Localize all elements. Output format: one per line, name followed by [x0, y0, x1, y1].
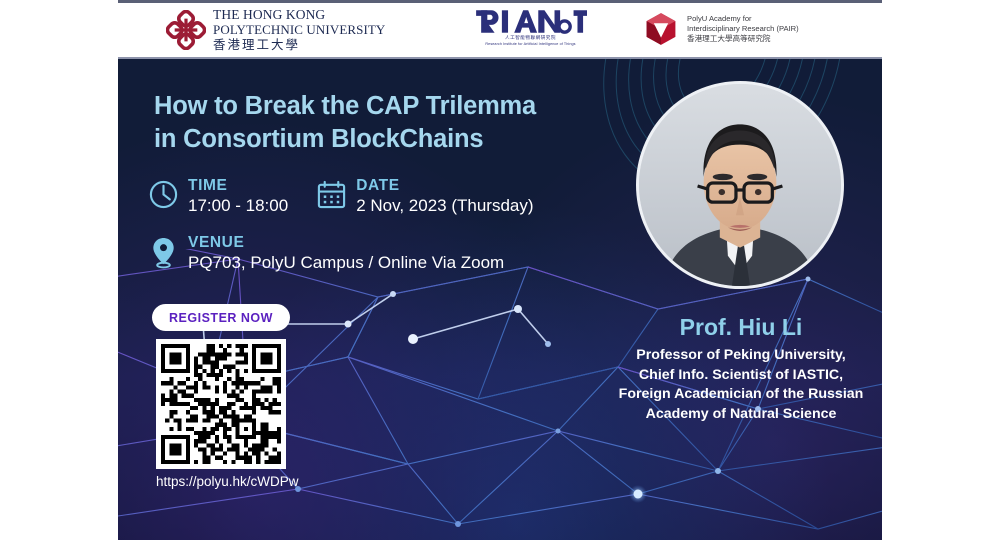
date-group: DATE 2 Nov, 2023 (Thursday)	[316, 177, 533, 217]
venue-block: VENUE PQ703, PolyU Campus / Online Via Z…	[188, 234, 504, 274]
credential-line: Academy of Natural Science	[583, 405, 882, 425]
venue-label: VENUE	[188, 234, 504, 251]
location-pin-icon	[148, 236, 179, 274]
poster-screenshot: THE HONG KONG POLYTECHNIC UNIVERSITY 香港理…	[0, 0, 1000, 540]
polyu-chinese: 香港理工大學	[213, 38, 385, 52]
speaker-portrait	[636, 81, 844, 289]
speaker-name: Prof. Hiu Li	[608, 314, 874, 341]
time-date-row: TIME 17:00 - 18:00	[148, 177, 534, 217]
pair-chinese: 香港理工大學高等研究院	[687, 34, 799, 43]
poster-title: How to Break the CAP Trilemma in Consort…	[154, 90, 554, 155]
clock-icon	[148, 179, 179, 215]
date-label: DATE	[356, 177, 533, 194]
pair-logo: PolyU Academy for Interdisciplinary Rese…	[643, 11, 799, 47]
pair-line1: PolyU Academy for	[687, 14, 799, 23]
date-value: 2 Nov, 2023 (Thursday)	[356, 196, 533, 216]
riaiot-chinese: 人工智能物聯網研究院	[473, 35, 588, 41]
riaiot-logo: 人工智能物聯網研究院 Research Institute for Artifi…	[473, 9, 588, 46]
qr-code[interactable]	[156, 339, 286, 469]
time-block: TIME 17:00 - 18:00	[188, 177, 288, 217]
venue-value: PQ703, PolyU Campus / Online Via Zoom	[188, 253, 504, 273]
riaiot-english: Research Institute for Artificial Intell…	[473, 42, 588, 46]
speaker-credentials: Professor of Peking University,Chief Inf…	[583, 346, 882, 424]
date-block: DATE 2 Nov, 2023 (Thursday)	[356, 177, 533, 217]
pair-cube-icon	[643, 11, 679, 47]
polyu-knot-icon	[166, 10, 206, 50]
polyu-logo: THE HONG KONG POLYTECHNIC UNIVERSITY 香港理…	[166, 8, 385, 51]
calendar-icon	[316, 179, 347, 215]
register-now-label: REGISTER NOW	[169, 311, 273, 325]
credential-line: Professor of Peking University,	[583, 346, 882, 366]
venue-row: VENUE PQ703, PolyU Campus / Online Via Z…	[148, 234, 504, 274]
logo-bar: THE HONG KONG POLYTECHNIC UNIVERSITY 香港理…	[118, 3, 882, 57]
time-value: 17:00 - 18:00	[188, 196, 288, 216]
portrait-image	[639, 84, 841, 286]
polyu-line2: POLYTECHNIC UNIVERSITY	[213, 23, 385, 37]
event-poster: How to Break the CAP Trilemma in Consort…	[118, 59, 882, 540]
time-label: TIME	[188, 177, 288, 194]
credential-line: Foreign Academician of the Russian	[583, 385, 882, 405]
polyu-line1: THE HONG KONG	[213, 8, 385, 23]
credential-line: Chief Info. Scientist of IASTIC,	[583, 366, 882, 386]
riaiot-wordmark-icon	[475, 9, 587, 34]
registration-url[interactable]: https://polyu.hk/cWDPw	[156, 474, 326, 489]
register-now-button[interactable]: REGISTER NOW	[152, 304, 290, 331]
pair-line2: Interdisciplinary Research (PAIR)	[687, 24, 799, 33]
